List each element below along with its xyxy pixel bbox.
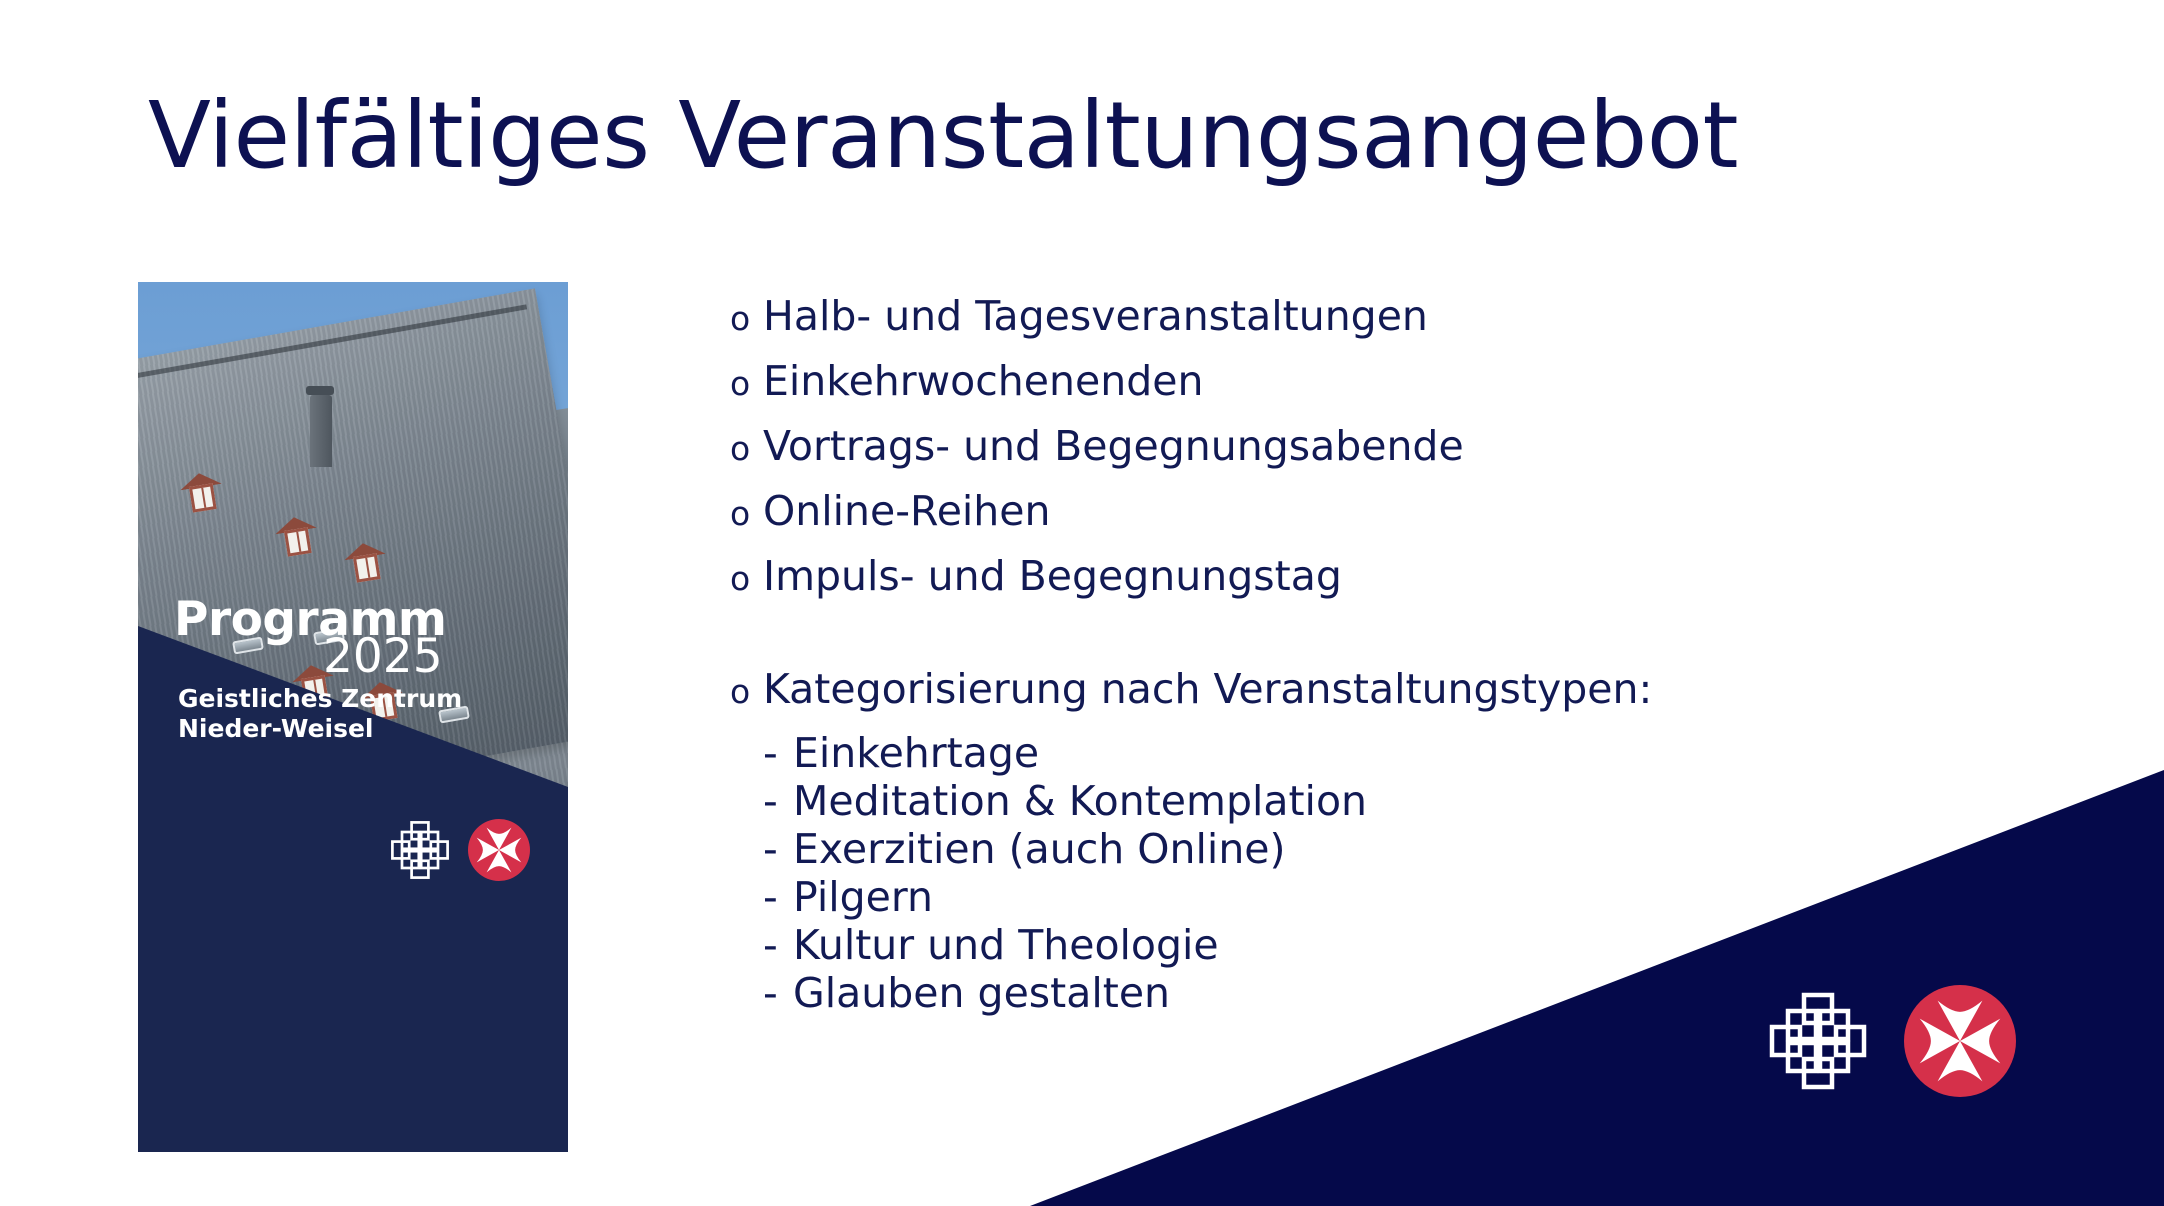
sublist-item-label: Exerzitien (auch Online) <box>793 827 1910 873</box>
bullet-marker-icon: o <box>730 497 763 530</box>
brochure-text-block: Programm 2025 Geistliches Zentrum Nieder… <box>138 282 568 1152</box>
list-item-label: Einkehrwochenenden <box>763 359 1910 405</box>
list-item: o Halb- und Tagesveranstaltungen <box>730 294 1910 340</box>
category-sublist: - Einkehrtage - Meditation & Kontemplati… <box>730 731 1910 1016</box>
list-item-label: Impuls- und Begegnungstag <box>763 554 1910 600</box>
brochure-cover-image: Programm 2025 Geistliches Zentrum Nieder… <box>138 282 568 1152</box>
brochure-year-label: 2025 <box>323 633 443 680</box>
brochure-logo-group <box>390 819 530 885</box>
sublist-item-label: Pilgern <box>793 875 1910 921</box>
bullet-marker-icon: o <box>730 367 763 400</box>
sublist-item: - Kultur und Theologie <box>730 923 1910 969</box>
bullet-marker-icon: o <box>730 302 763 335</box>
sublist-item: - Exerzitien (auch Online) <box>730 827 1910 873</box>
list-item: o Vortrags- und Begegnungsabende <box>730 424 1910 470</box>
list-item-categories: o Kategorisierung nach Veranstaltungstyp… <box>730 667 1910 713</box>
list-item: o Einkehrwochenenden <box>730 359 1910 405</box>
sublist-item-label: Einkehrtage <box>793 731 1910 777</box>
sublist-item-label: Meditation & Kontemplation <box>793 779 1910 825</box>
sublist-item-label: Kultur und Theologie <box>793 923 1910 969</box>
johanniter-cross-icon <box>1768 991 1868 1095</box>
dash-marker-icon: - <box>763 779 793 825</box>
page-title: Vielfältiges Veranstaltungsangebot <box>148 88 1948 185</box>
list-item-label: Online-Reihen <box>763 489 1910 535</box>
dash-marker-icon: - <box>763 731 793 777</box>
sublist-item: - Meditation & Kontemplation <box>730 779 1910 825</box>
sublist-item: - Glauben gestalten <box>730 971 1910 1017</box>
bullet-marker-icon: o <box>730 562 763 595</box>
dash-marker-icon: - <box>763 923 793 969</box>
slide-canvas: Vielfältiges Veranstaltungsangebot o Hal… <box>0 0 2164 1206</box>
list-spacer <box>730 619 1910 667</box>
dash-marker-icon: - <box>763 875 793 921</box>
list-item-label: Halb- und Tagesveranstaltungen <box>763 294 1910 340</box>
maltese-cross-icon <box>1904 985 2016 1101</box>
list-item: o Online-Reihen <box>730 489 1910 535</box>
bullet-marker-icon: o <box>730 675 763 708</box>
bullet-marker-icon: o <box>730 432 763 465</box>
maltese-cross-icon <box>468 819 530 885</box>
brochure-org-line-2: Nieder-Weisel <box>178 716 374 741</box>
list-item: o Impuls- und Begegnungstag <box>730 554 1910 600</box>
sublist-item: - Pilgern <box>730 875 1910 921</box>
sublist-item: - Einkehrtage <box>730 731 1910 777</box>
list-item-label: Kategorisierung nach Veranstaltungstypen… <box>763 667 1910 713</box>
content-bullet-list: o Halb- und Tagesveranstaltungen o Einke… <box>730 294 1910 1019</box>
corner-logo-group <box>1768 985 2016 1101</box>
sublist-item-label: Glauben gestalten <box>793 971 1910 1017</box>
dash-marker-icon: - <box>763 827 793 873</box>
johanniter-cross-icon <box>390 820 450 884</box>
dash-marker-icon: - <box>763 971 793 1017</box>
brochure-org-line-1: Geistliches Zentrum <box>178 686 462 711</box>
list-item-label: Vortrags- und Begegnungsabende <box>763 424 1910 470</box>
